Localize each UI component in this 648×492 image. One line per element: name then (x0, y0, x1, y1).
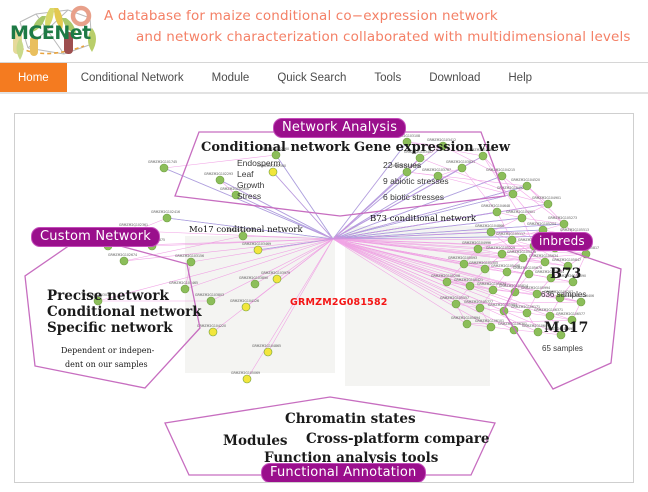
b73-network-title: B73 conditional network (370, 214, 476, 224)
network-node[interactable] (209, 328, 217, 336)
network-node-label: GRMZM2G104901 (506, 210, 535, 214)
network-node[interactable] (254, 246, 262, 254)
inbreds-polygon (503, 241, 633, 389)
site-header: MCENet A database for maize conditional … (0, 0, 648, 62)
network-analysis-col1-item-3: Stress (237, 191, 261, 201)
inbred-samples-mo17: 65 samples (542, 344, 583, 353)
functional-annotation-line-1: Chromatin states (285, 411, 416, 427)
network-node-label: GRMZM2G105117 (496, 232, 525, 236)
network-node[interactable] (560, 220, 568, 228)
network-node[interactable] (544, 200, 552, 208)
network-node-label: GRMZM2G104996 (462, 241, 491, 245)
network-node[interactable] (518, 214, 526, 222)
network-node[interactable] (523, 182, 531, 190)
network-analysis-col2-item-2: 6 biotic stresses (383, 192, 444, 202)
network-node[interactable] (273, 275, 281, 283)
badge-inbreds[interactable]: inbreds (531, 232, 593, 251)
network-node[interactable] (487, 228, 495, 236)
network-node-label: GRMZM2G101745 (148, 160, 177, 164)
network-node-label: GRMZM2G104865 (252, 344, 281, 348)
network-node[interactable] (264, 348, 272, 356)
network-analysis-col2-heading: Gene expression view (354, 140, 510, 155)
network-analysis-col1-heading: Conditional network (201, 140, 350, 155)
site-tagline: A database for maize conditional co−expr… (100, 6, 645, 48)
nav-item-module[interactable]: Module (198, 63, 264, 92)
network-node-label: GRMZM2G104126 (230, 299, 259, 303)
overview-diagram-panel: Mo17 conditional network B73 conditional… (14, 113, 634, 483)
tagline-line-1: A database for maize conditional co−expr… (100, 6, 645, 27)
network-analysis-col2-item-1: 9 abiotic stresses (383, 176, 449, 186)
network-node[interactable] (243, 375, 251, 383)
network-analysis-col1-item-1: Leaf (237, 169, 254, 179)
mo17-network-title: Mo17 conditional network (189, 225, 303, 235)
network-analysis-col2-item-0: 22 tissues (383, 160, 421, 170)
site-logo[interactable]: MCENet (6, 2, 104, 62)
network-node-label: GRMZM2G104520 (511, 178, 540, 182)
custom-network-note-line-2: dent on our samples (65, 360, 148, 369)
badge-network-analysis[interactable]: Network Analysis (273, 118, 406, 138)
page-root: MCENet A database for maize conditional … (0, 0, 648, 492)
network-node[interactable] (207, 297, 215, 305)
custom-network-line-2: Specific network (47, 320, 173, 336)
network-node[interactable] (489, 286, 497, 294)
custom-network-line-0: Precise network (47, 288, 169, 304)
nav-item-download[interactable]: Download (415, 63, 494, 92)
nav-item-quick-search[interactable]: Quick Search (263, 63, 360, 92)
network-analysis-col1-item-2: Growth (237, 180, 264, 190)
network-node-label: GRMZM2G105204 (527, 222, 556, 226)
logo-icon: MCENet (6, 2, 104, 62)
inbred-name-mo17: Mo17 (544, 320, 588, 336)
network-node[interactable] (242, 303, 250, 311)
network-node-label: GRMZM2G103890 (239, 276, 268, 280)
svg-text:MCENet: MCENet (10, 22, 91, 44)
network-node-label: GRMZM2G105069 (231, 371, 260, 375)
network-node[interactable] (251, 280, 259, 288)
network-node[interactable] (509, 190, 517, 198)
functional-annotation-line-2-right: Cross-platform compare (306, 431, 490, 447)
network-node-label: GRMZM2G103979 (261, 271, 290, 275)
badge-custom-network[interactable]: Custom Network (31, 227, 160, 247)
network-node-label: GRMZM2G105273 (548, 216, 577, 220)
network-node[interactable] (487, 323, 495, 331)
network-node[interactable] (163, 214, 171, 222)
network-node-label: GRMZM2G104901 (532, 196, 561, 200)
network-node-label: GRMZM2G104866 (475, 224, 504, 228)
custom-network-line-1: Conditional network (47, 304, 202, 320)
inbred-name-b73: B73 (550, 266, 581, 282)
tagline-line-2: and network characterization collaborate… (100, 27, 645, 48)
inbred-samples-b73: 636 samples (541, 290, 586, 299)
nav-item-help[interactable]: Help (494, 63, 546, 92)
network-node[interactable] (474, 245, 482, 253)
nav-item-tools[interactable]: Tools (360, 63, 415, 92)
main-navigation: Home Conditional Network Module Quick Se… (0, 62, 648, 94)
network-node[interactable] (443, 278, 451, 286)
custom-network-note-line-1: Dependent or indepen- (61, 346, 154, 355)
network-node[interactable] (463, 320, 471, 328)
network-node[interactable] (481, 265, 489, 273)
network-node[interactable] (466, 282, 474, 290)
network-node-label: GRMZM2G104220 (197, 324, 226, 328)
nav-item-home[interactable]: Home (0, 63, 67, 92)
network-node-label: GRMZM2G105093 (448, 256, 477, 260)
functional-annotation-line-2-left: Modules (223, 433, 288, 449)
network-node-label: GRMZM2G103469 (242, 242, 271, 246)
hub-gene-label[interactable]: GRMZM2G081582 (290, 297, 388, 308)
network-node[interactable] (160, 164, 168, 172)
inbreds-shape (503, 241, 633, 389)
badge-functional-annotation[interactable]: Functional Annotation (261, 463, 426, 483)
network-node[interactable] (452, 300, 460, 308)
nav-item-conditional-network[interactable]: Conditional Network (67, 63, 198, 92)
network-analysis-col1-item-0: Endosperm (237, 158, 280, 168)
network-node[interactable] (476, 304, 484, 312)
network-node[interactable] (460, 260, 468, 268)
